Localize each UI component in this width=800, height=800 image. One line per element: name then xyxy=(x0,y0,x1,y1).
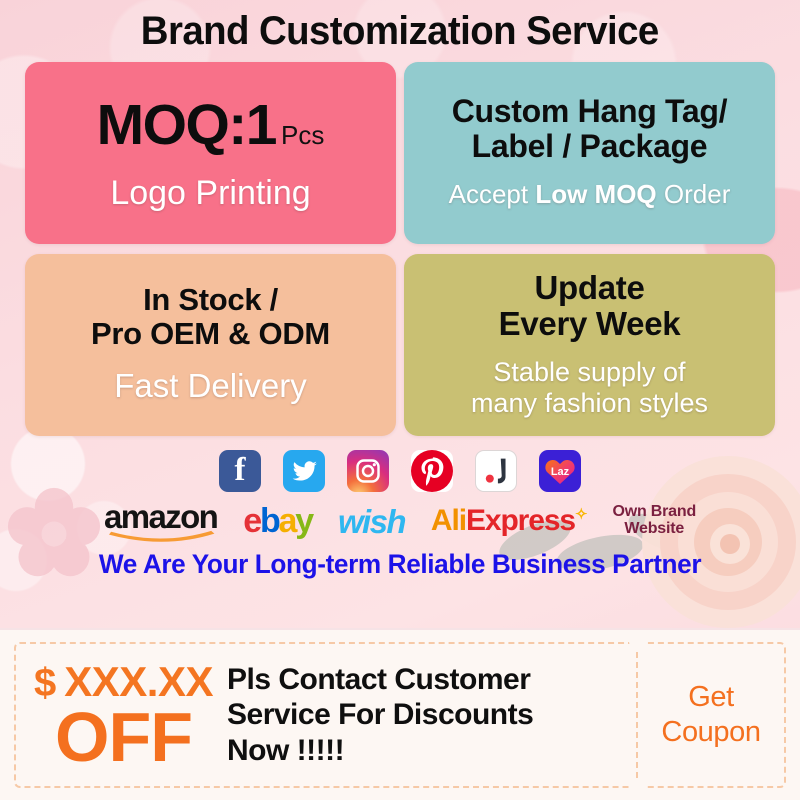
get-coupon-line2: Coupon xyxy=(661,715,760,750)
page-title: Brand Customization Service xyxy=(141,9,659,54)
in-stock-title: In Stock / Pro OEM & ODM xyxy=(91,283,330,350)
moq-value: MOQ:1 xyxy=(97,92,276,158)
coupon-price-block: $ XXX.XX OFF xyxy=(34,661,213,769)
lazada-text: Laz xyxy=(551,466,570,478)
pinterest-icon[interactable] xyxy=(411,450,453,492)
coupon-message-line1: Pls Contact Customer xyxy=(227,662,533,697)
feature-card-update[interactable]: Update Every Week Stable supply of many … xyxy=(404,254,775,436)
hang-tag-sub-strong: Low MOQ xyxy=(535,179,656,209)
feature-card-in-stock[interactable]: In Stock / Pro OEM & ODM Fast Delivery xyxy=(25,254,396,436)
coupon-message: Pls Contact Customer Service For Discoun… xyxy=(227,662,533,767)
ebay-letter-b: b xyxy=(260,502,279,540)
feature-card-hang-tag[interactable]: Custom Hang Tag/ Label / Package Accept … xyxy=(404,62,775,244)
hang-tag-sub-prefix: Accept xyxy=(449,179,536,209)
coupon-currency-symbol: $ xyxy=(34,663,56,703)
lazada-heart-glyph: Laz xyxy=(539,450,581,492)
tagline: We Are Your Long-term Reliable Business … xyxy=(12,549,788,580)
facebook-icon[interactable]: f xyxy=(219,450,261,492)
own-brand-website-logo[interactable]: Own Brand Website xyxy=(612,504,696,538)
aliexpress-express: Express xyxy=(466,504,575,537)
instagram-icon[interactable] xyxy=(347,450,389,492)
coupon-price-line: $ XXX.XX xyxy=(34,661,213,703)
hang-tag-title-line2: Label / Package xyxy=(452,129,728,164)
get-coupon-line1: Get xyxy=(661,680,760,715)
lazada-icon[interactable]: Laz xyxy=(539,450,581,492)
marketplace-logo-row: amazon ebay wish AliExpress✧ Own Brand W… xyxy=(0,498,800,544)
update-sub-line1: Stable supply of xyxy=(471,357,708,387)
update-title-line1: Update xyxy=(499,270,681,306)
in-stock-title-line2: Pro OEM & ODM xyxy=(91,317,330,350)
hang-tag-title-line1: Custom Hang Tag/ xyxy=(452,94,728,129)
get-coupon-label: Get Coupon xyxy=(661,680,760,750)
hang-tag-title: Custom Hang Tag/ Label / Package xyxy=(452,94,728,163)
aliexpress-star-icon: ✧ xyxy=(575,506,586,523)
coupon-ticket[interactable]: $ XXX.XX OFF Pls Contact Customer Servic… xyxy=(14,642,786,788)
facebook-glyph: f xyxy=(235,454,246,487)
ebay-letter-e: e xyxy=(243,502,260,540)
moq-subtitle: Logo Printing xyxy=(110,174,310,212)
update-title-line2: Every Week xyxy=(499,306,681,342)
twitter-icon[interactable] xyxy=(283,450,325,492)
aliexpress-logo[interactable]: AliExpress✧ xyxy=(431,506,587,536)
coupon-perforation-divider xyxy=(636,642,638,788)
hang-tag-subtitle: Accept Low MOQ Order xyxy=(449,180,731,209)
coupon-message-line2: Service For Discounts xyxy=(227,697,533,732)
joom-j-glyph xyxy=(476,451,516,491)
ebay-letter-a: a xyxy=(279,502,296,540)
update-sub-line2: many fashion styles xyxy=(471,388,708,418)
ebay-letter-y: y xyxy=(295,502,312,540)
coupon-off-label: OFF xyxy=(34,705,213,769)
moq-headline: MOQ:1 Pcs xyxy=(97,92,325,158)
instagram-camera-glyph xyxy=(354,457,382,485)
get-coupon-button[interactable]: Get Coupon xyxy=(638,642,786,788)
banner-header: Brand Customization Service xyxy=(0,0,800,62)
wish-logo[interactable]: wish xyxy=(338,505,405,538)
moq-unit: Pcs xyxy=(281,120,324,151)
amazon-smile-icon xyxy=(109,529,215,542)
coupon-amount: XXX.XX xyxy=(64,661,213,703)
ebay-logo[interactable]: ebay xyxy=(243,504,312,538)
hang-tag-sub-suffix: Order xyxy=(657,179,731,209)
update-subtitle: Stable supply of many fashion styles xyxy=(471,357,708,417)
promo-banner: Brand Customization Service MOQ:1 Pcs Lo… xyxy=(0,0,800,800)
coupon-message-line3: Now !!!!! xyxy=(227,733,533,768)
feature-card-grid: MOQ:1 Pcs Logo Printing Custom Hang Tag/… xyxy=(0,62,800,436)
twitter-bird-glyph xyxy=(291,458,318,485)
amazon-logo[interactable]: amazon xyxy=(104,500,217,542)
social-icon-row: f xyxy=(0,450,800,492)
update-title: Update Every Week xyxy=(499,270,681,341)
joom-icon[interactable] xyxy=(475,450,517,492)
coupon-body: $ XXX.XX OFF Pls Contact Customer Servic… xyxy=(14,642,636,788)
own-brand-line2: Website xyxy=(612,521,696,538)
feature-card-moq[interactable]: MOQ:1 Pcs Logo Printing xyxy=(25,62,396,244)
pinterest-p-glyph xyxy=(411,450,453,492)
in-stock-subtitle: Fast Delivery xyxy=(114,368,307,405)
aliexpress-ali: Ali xyxy=(431,504,466,537)
own-brand-line1: Own Brand xyxy=(612,504,696,521)
coupon-section: $ XXX.XX OFF Pls Contact Customer Servic… xyxy=(0,628,800,800)
in-stock-title-line1: In Stock / xyxy=(91,283,330,316)
